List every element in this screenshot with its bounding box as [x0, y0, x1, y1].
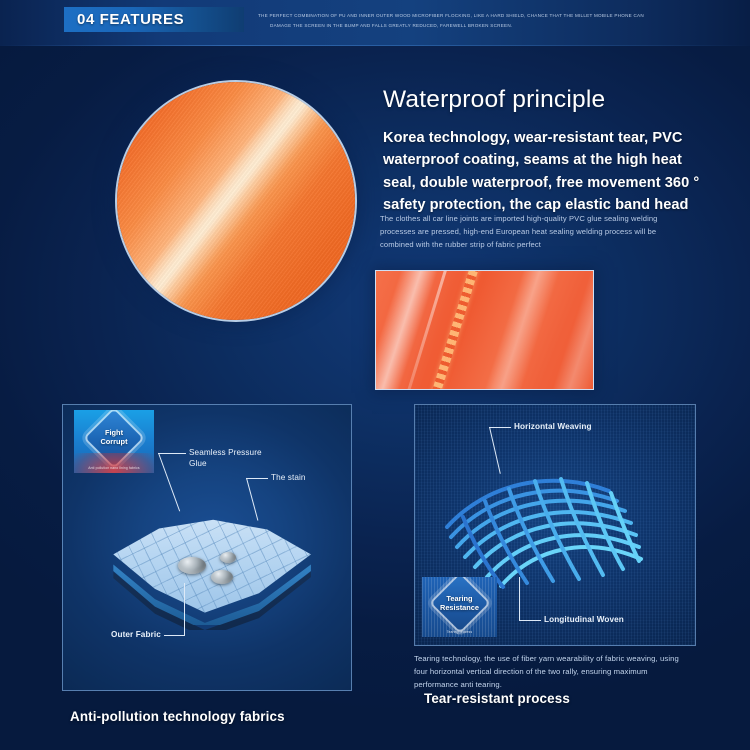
- tearing-badge-subtitle: Tearing process: [422, 630, 497, 634]
- leader-line-horizontal-weave-horiz: [489, 427, 511, 428]
- features-tab: 04 FEATURES: [64, 7, 244, 32]
- leader-line-stain-horiz: [246, 478, 268, 479]
- waterproof-body: Korea technology, wear-resistant tear, P…: [383, 127, 713, 217]
- anti-pollution-title: Anti-pollution technology fabrics: [70, 709, 285, 724]
- label-horizontal-weaving: Horizontal Weaving: [514, 422, 644, 433]
- header-band: 04 FEATURES THE PERFECT COMBINATION OF P…: [0, 0, 750, 46]
- leader-line-longitudinal-vert: [519, 577, 520, 620]
- leader-line-outer-vert: [184, 583, 185, 635]
- header-description: THE PERFECT COMBINATION OF PU AND INNER …: [258, 12, 728, 33]
- badge-text: Fight Corrupt: [74, 429, 154, 446]
- leader-line-glue-horiz: [158, 453, 186, 454]
- infographic-page: 04 FEATURES THE PERFECT COMBINATION OF P…: [0, 0, 750, 750]
- fabric-closeup-circle: [117, 82, 355, 320]
- waterproof-subtext: The clothes all car line joints are impo…: [380, 212, 690, 251]
- label-the-stain: The stain: [271, 473, 341, 484]
- water-droplet-medium: [211, 570, 233, 584]
- anti-pollution-panel: Fight Corrupt Anti pollution nano lining…: [62, 404, 352, 691]
- mesh-svg: [441, 453, 651, 593]
- seam-sheen: [375, 270, 594, 390]
- header-copy-line-1: THE PERFECT COMBINATION OF PU AND INNER …: [258, 12, 728, 20]
- tearing-badge-line-2: Resistance: [422, 604, 497, 613]
- waterproof-subtext-line: The clothes all car line joints are impo…: [380, 212, 690, 251]
- header-copy-line-2: DAMAGE THE SCREEN IN THE BUMP AND FALLS …: [258, 22, 728, 30]
- label-outer-fabric: Outer Fabric: [111, 630, 171, 641]
- leader-line-glue-diag: [158, 453, 180, 512]
- water-droplet-small: [220, 552, 236, 563]
- features-tab-label: 04 FEATURES: [64, 11, 184, 28]
- leader-line-longitudinal-horiz: [519, 620, 541, 621]
- badge-line-2: Corrupt: [74, 438, 154, 447]
- tear-resistant-caption: Tearing technology, the use of fiber yar…: [414, 652, 690, 692]
- orange-fabric-circle-image: [117, 82, 355, 320]
- welded-seam-photo: [375, 270, 594, 390]
- tear-resistant-title: Tear-resistant process: [424, 691, 570, 706]
- badge-subtitle: Anti pollution nano lining fabrics: [74, 466, 154, 470]
- tearing-resistance-badge: Tearing Resistance Tearing process: [422, 577, 497, 637]
- label-longitudinal-woven: Longitudinal Woven: [544, 615, 664, 626]
- fight-corrupt-badge: Fight Corrupt Anti pollution nano lining…: [74, 410, 154, 473]
- tear-resistant-panel: Horizontal Weaving Longitudinal Woven Te…: [414, 404, 696, 646]
- waterproof-title: Waterproof principle: [383, 86, 713, 114]
- label-seamless-pressure-glue: Seamless Pressure Glue: [189, 448, 289, 470]
- tearing-badge-text: Tearing Resistance: [422, 595, 497, 612]
- fabric-grid-texture: [105, 509, 313, 617]
- fabric-layer-illustration: [105, 509, 313, 617]
- tear-resistant-caption-text: Tearing technology, the use of fiber yar…: [414, 652, 690, 692]
- water-droplet-large: [178, 557, 206, 574]
- woven-mesh-illustration: [441, 453, 651, 593]
